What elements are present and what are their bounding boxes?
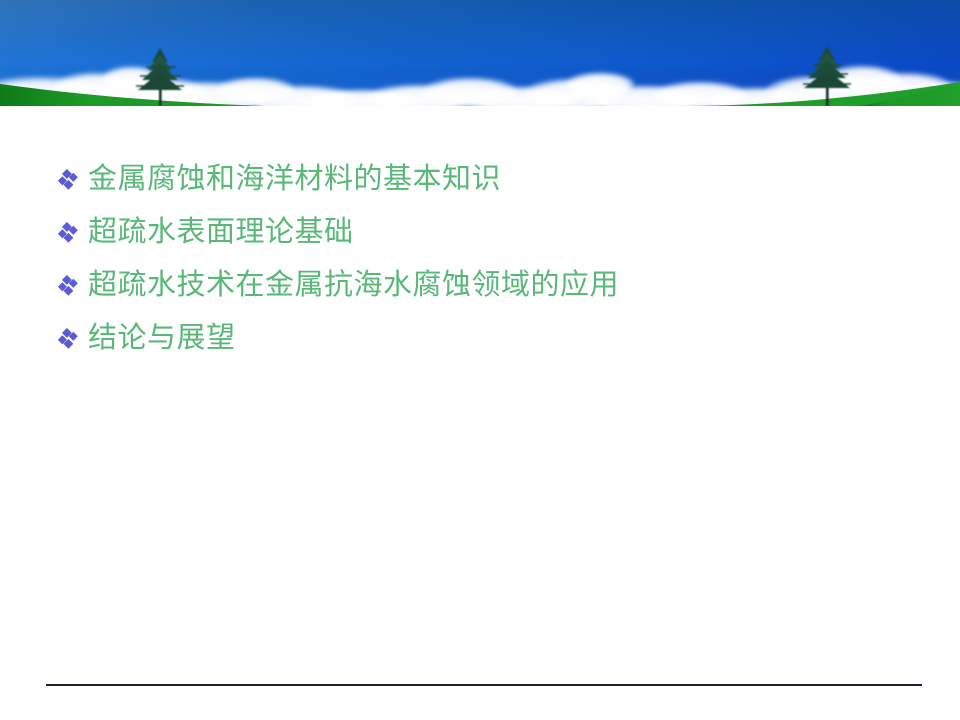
list-item-label: 结论与展望 [88,318,236,358]
list-item[interactable]: 超疏水表面理论基础 [58,205,918,258]
list-item[interactable]: 金属腐蚀和海洋材料的基本知识 [58,152,918,205]
sky-landscape-graphic [0,0,960,106]
list-item[interactable]: 超疏水技术在金属抗海水腐蚀领域的应用 [58,258,918,311]
diamond-cluster-bullet-icon [58,326,88,350]
diamond-cluster-bullet-icon [58,220,88,244]
list-item[interactable]: 结论与展望 [58,311,918,364]
footer-divider [46,684,922,686]
presentation-slide: 金属腐蚀和海洋材料的基本知识 超疏水表面理论基础 [0,0,960,720]
diamond-cluster-bullet-icon [58,273,88,297]
bullet-list: 金属腐蚀和海洋材料的基本知识 超疏水表面理论基础 [58,152,918,364]
slide-header-banner [0,0,960,106]
diamond-cluster-bullet-icon [58,167,88,191]
list-item-label: 超疏水技术在金属抗海水腐蚀领域的应用 [88,265,619,305]
list-item-label: 超疏水表面理论基础 [88,212,354,252]
list-item-label: 金属腐蚀和海洋材料的基本知识 [88,159,501,199]
